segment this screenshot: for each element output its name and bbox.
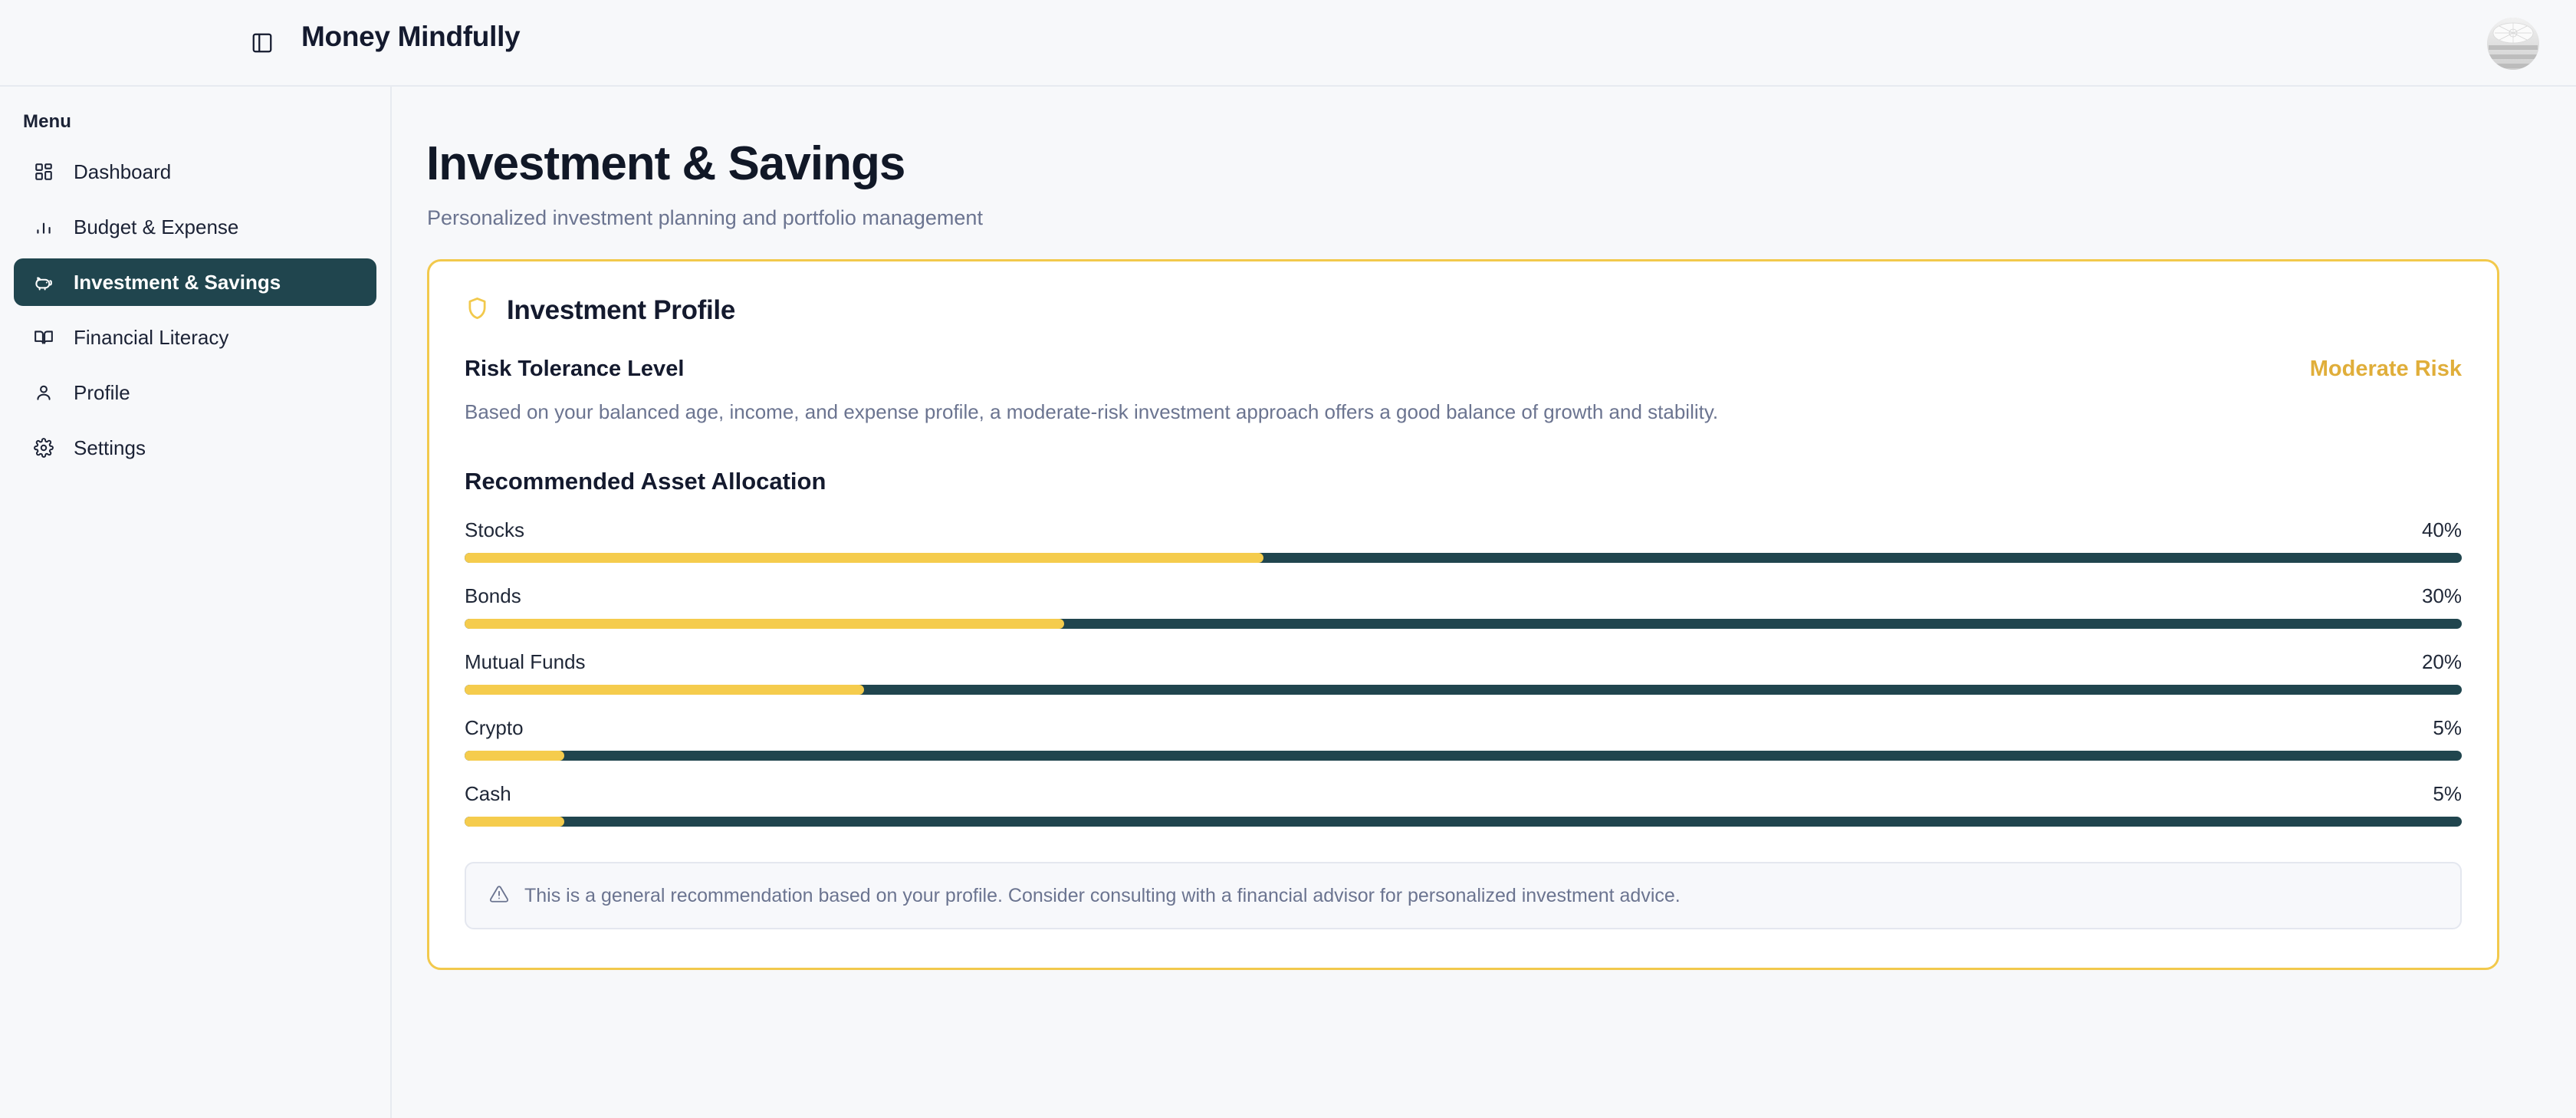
disclaimer-text: This is a general recommendation based o… xyxy=(524,883,1681,909)
allocation-fill xyxy=(465,619,1064,629)
card-title: Investment Profile xyxy=(507,295,735,326)
sidebar-item-settings[interactable]: Settings xyxy=(14,424,376,472)
allocation-track xyxy=(465,619,2462,629)
sidebar-item-label: Dashboard xyxy=(74,160,171,184)
allocation-row: Crypto 5% xyxy=(465,716,2462,761)
risk-tolerance-heading: Risk Tolerance Level xyxy=(465,357,684,382)
allocation-heading: Recommended Asset Allocation xyxy=(465,468,2462,495)
allocation-fill xyxy=(465,553,1263,563)
main-content: Investment & Savings Personalized invest… xyxy=(392,87,2576,1118)
allocation-value: 30% xyxy=(2422,584,2462,608)
sidebar-item-dashboard[interactable]: Dashboard xyxy=(14,148,376,196)
sidebar-item-profile[interactable]: Profile xyxy=(14,369,376,416)
allocation-track xyxy=(465,817,2462,827)
investment-profile-card: Investment Profile Risk Tolerance Level … xyxy=(427,259,2499,971)
book-open-icon xyxy=(29,323,58,352)
allocation-track xyxy=(465,553,2462,563)
allocation-label: Bonds xyxy=(465,584,521,608)
sidebar-item-label: Financial Literacy xyxy=(74,326,228,350)
allocation-fill xyxy=(465,685,864,695)
sidebar-item-budget-expense[interactable]: Budget & Expense xyxy=(14,203,376,251)
sidebar-item-label: Budget & Expense xyxy=(74,215,238,239)
allocation-value: 20% xyxy=(2422,650,2462,674)
avatar[interactable] xyxy=(2487,18,2539,70)
allocation-row: Bonds 30% xyxy=(465,584,2462,629)
sidebar-item-financial-literacy[interactable]: Financial Literacy xyxy=(14,314,376,361)
allocation-row: Mutual Funds 20% xyxy=(465,650,2462,695)
alert-triangle-icon xyxy=(489,884,509,908)
allocation-value: 5% xyxy=(2433,716,2462,740)
disclaimer-note: This is a general recommendation based o… xyxy=(465,862,2462,930)
risk-tolerance-description: Based on your balanced age, income, and … xyxy=(465,399,2462,426)
app-brand-title: Money Mindfully xyxy=(301,21,520,53)
allocation-label: Mutual Funds xyxy=(465,650,586,674)
allocation-row: Stocks 40% xyxy=(465,518,2462,563)
asset-allocation-chart: Stocks 40% Bonds 30% xyxy=(465,518,2462,827)
allocation-row: Cash 5% xyxy=(465,782,2462,827)
sidebar-item-label: Profile xyxy=(74,381,130,405)
card-header: Investment Profile xyxy=(465,295,2462,326)
sidebar: Menu Dashboard Budget & Expense xyxy=(0,87,392,1118)
sidebar-item-investment-savings[interactable]: Investment & Savings xyxy=(14,258,376,306)
app-root: Money Mindfully xyxy=(0,0,2576,1118)
allocation-fill xyxy=(465,751,564,761)
bar-chart-icon xyxy=(29,212,58,242)
sidebar-section-label: Menu xyxy=(23,111,390,133)
allocation-fill xyxy=(465,817,564,827)
allocation-track xyxy=(465,751,2462,761)
status-badge: Moderate Risk xyxy=(2310,357,2462,382)
risk-tolerance-section: Risk Tolerance Level Moderate Risk xyxy=(465,357,2462,382)
gear-icon xyxy=(29,433,58,462)
page-title: Investment & Savings xyxy=(426,139,2495,189)
sidebar-toggle-icon[interactable] xyxy=(245,26,279,60)
allocation-label: Crypto xyxy=(465,716,524,740)
sidebar-item-label: Settings xyxy=(74,436,146,460)
piggy-bank-icon xyxy=(29,268,58,297)
allocation-track xyxy=(465,685,2462,695)
allocation-value: 40% xyxy=(2422,518,2462,542)
layout-grid-icon xyxy=(29,157,58,186)
allocation-label: Stocks xyxy=(465,518,524,542)
top-bar: Money Mindfully xyxy=(0,0,2576,87)
sidebar-item-label: Investment & Savings xyxy=(74,271,281,294)
allocation-label: Cash xyxy=(465,782,511,806)
shield-icon xyxy=(465,296,490,325)
user-icon xyxy=(29,378,58,407)
page-subtitle: Personalized investment planning and por… xyxy=(427,206,2495,230)
allocation-value: 5% xyxy=(2433,782,2462,806)
